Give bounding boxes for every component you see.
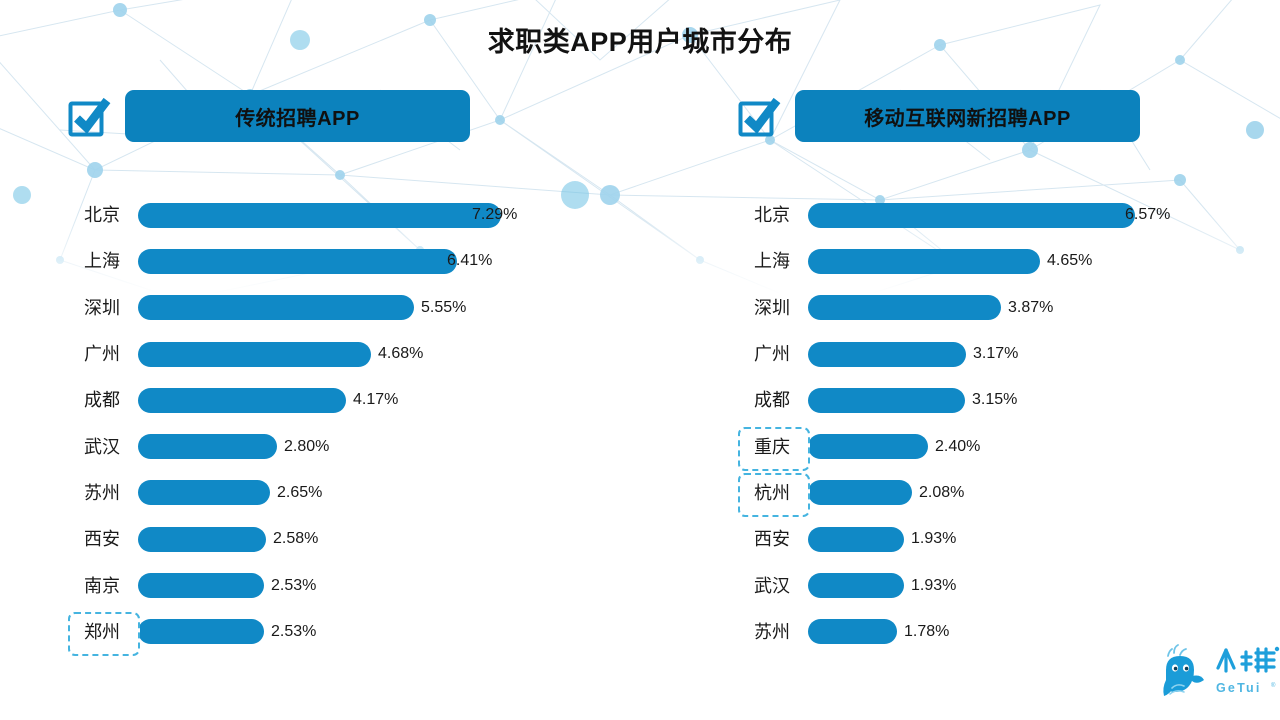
city-label: 上海	[736, 241, 808, 281]
bar-row: 上海4.65%	[736, 238, 1280, 284]
city-name: 广州	[754, 345, 790, 363]
value-bar	[138, 203, 501, 228]
city-label: 广州	[736, 334, 808, 374]
slide-root: 求职类APP用户城市分布 传统招聘APP 北京7.29%上海6.41%深圳5.5…	[0, 0, 1280, 720]
checkbox-checked-icon	[736, 93, 782, 139]
value-bar	[138, 434, 277, 459]
value-bar	[808, 342, 966, 367]
value-bar	[808, 249, 1040, 274]
bar-list-traditional: 北京7.29%上海6.41%深圳5.55%广州4.68%成都4.17%武汉2.8…	[66, 192, 626, 655]
city-name: 郑州	[84, 623, 120, 641]
bar-row: 西安1.93%	[736, 516, 1280, 562]
city-label: 成都	[736, 380, 808, 420]
value-label: 5.55%	[421, 299, 466, 317]
value-bar	[138, 295, 414, 320]
city-label: 西安	[736, 519, 808, 559]
bar-track: 1.93%	[808, 519, 1280, 559]
city-name: 武汉	[84, 438, 120, 456]
value-bar	[808, 527, 904, 552]
bar-track: 2.08%	[808, 473, 1280, 513]
city-label-highlighted: 郑州	[66, 612, 138, 652]
city-label: 北京	[66, 195, 138, 235]
city-name: 南京	[84, 577, 120, 595]
bar-track: 2.40%	[808, 427, 1280, 467]
bar-row: 广州4.68%	[66, 331, 626, 377]
bar-track: 1.93%	[808, 566, 1280, 606]
city-label: 广州	[66, 334, 138, 374]
value-bar	[138, 249, 457, 274]
bar-row: 北京7.29%	[66, 192, 626, 238]
city-name: 杭州	[754, 484, 790, 502]
value-bar	[808, 619, 897, 644]
bar-row: 杭州2.08%	[736, 470, 1280, 516]
city-name: 成都	[84, 391, 120, 409]
checkbox-checked-icon	[66, 93, 112, 139]
bar-track: 4.68%	[138, 334, 626, 374]
bar-row: 南京2.53%	[66, 562, 626, 608]
svg-text:®: ®	[1271, 682, 1276, 689]
value-label: 1.93%	[911, 530, 956, 548]
bar-row: 武汉2.80%	[66, 423, 626, 469]
city-name: 武汉	[754, 577, 790, 595]
bar-row: 重庆2.40%	[736, 423, 1280, 469]
city-label: 苏州	[66, 473, 138, 513]
value-label: 2.53%	[271, 623, 316, 641]
bar-row: 郑州2.53%	[66, 609, 626, 655]
bar-row: 北京6.57%	[736, 192, 1280, 238]
bar-row: 成都3.15%	[736, 377, 1280, 423]
value-bar	[808, 573, 904, 598]
city-name: 成都	[754, 391, 790, 409]
value-label: 1.93%	[911, 577, 956, 595]
bar-row: 苏州2.65%	[66, 470, 626, 516]
value-label: 3.15%	[972, 391, 1017, 409]
getui-wordmark	[1218, 649, 1274, 671]
city-label: 苏州	[736, 612, 808, 652]
value-label: 6.57%	[1125, 206, 1170, 224]
value-label: 2.65%	[277, 484, 322, 502]
city-label: 武汉	[736, 566, 808, 606]
svg-text:GeTui: GeTui	[1216, 681, 1262, 695]
value-label: 3.87%	[1008, 299, 1053, 317]
value-label: 2.80%	[284, 438, 329, 456]
panel-header-label-mobile-new: 移动互联网新招聘APP	[795, 90, 1140, 142]
value-bar	[808, 295, 1001, 320]
city-label: 上海	[66, 241, 138, 281]
value-bar	[138, 388, 346, 413]
bar-track: 6.41%	[138, 241, 626, 281]
city-name: 西安	[84, 530, 120, 548]
logo-dot-icon	[1275, 647, 1279, 651]
city-label: 西安	[66, 519, 138, 559]
bar-track: 2.65%	[138, 473, 626, 513]
city-name: 深圳	[754, 299, 790, 317]
value-label: 7.29%	[472, 206, 517, 224]
bar-track: 2.80%	[138, 427, 626, 467]
value-label: 4.68%	[378, 345, 423, 363]
city-label: 深圳	[66, 288, 138, 328]
city-label-highlighted: 杭州	[736, 473, 808, 513]
city-label: 武汉	[66, 427, 138, 467]
value-bar	[138, 342, 371, 367]
bar-track: 4.65%	[808, 241, 1280, 281]
value-bar	[808, 480, 912, 505]
city-label: 南京	[66, 566, 138, 606]
city-name: 北京	[754, 206, 790, 224]
value-label: 6.41%	[447, 252, 492, 270]
value-label: 1.78%	[904, 623, 949, 641]
bar-track: 5.55%	[138, 288, 626, 328]
city-name: 北京	[84, 206, 120, 224]
bar-row: 西安2.58%	[66, 516, 626, 562]
whale-mascot-icon	[1163, 645, 1204, 696]
bar-row: 深圳5.55%	[66, 285, 626, 331]
bar-track: 3.17%	[808, 334, 1280, 374]
value-bar	[138, 480, 270, 505]
bar-track: 6.57%	[808, 195, 1280, 235]
city-name: 上海	[84, 252, 120, 270]
panel-traditional: 传统招聘APP 北京7.29%上海6.41%深圳5.55%广州4.68%成都4.…	[66, 88, 626, 144]
city-name: 苏州	[84, 484, 120, 502]
bar-list-mobile-new: 北京6.57%上海4.65%深圳3.87%广州3.17%成都3.15%重庆2.4…	[736, 192, 1280, 655]
value-bar	[138, 573, 264, 598]
bar-row: 广州3.17%	[736, 331, 1280, 377]
value-label: 4.17%	[353, 391, 398, 409]
bar-row: 成都4.17%	[66, 377, 626, 423]
bar-track: 3.15%	[808, 380, 1280, 420]
bar-track: 7.29%	[138, 195, 626, 235]
bar-track: 3.87%	[808, 288, 1280, 328]
value-bar	[138, 619, 264, 644]
getui-latin-text: GeTui	[1216, 681, 1262, 695]
city-name: 广州	[84, 345, 120, 363]
bar-track: 2.53%	[138, 612, 626, 652]
panel-mobile-new: 移动互联网新招聘APP 北京6.57%上海4.65%深圳3.87%广州3.17%…	[736, 88, 1280, 144]
value-label: 4.65%	[1047, 252, 1092, 270]
bar-track: 2.58%	[138, 519, 626, 559]
city-name: 西安	[754, 530, 790, 548]
panel-header-traditional: 传统招聘APP	[66, 88, 626, 144]
value-label: 2.53%	[271, 577, 316, 595]
city-name: 苏州	[754, 623, 790, 641]
getui-logo: GeTui ®	[1158, 640, 1280, 712]
city-name: 上海	[754, 252, 790, 270]
value-bar	[808, 203, 1135, 228]
panel-header-mobile-new: 移动互联网新招聘APP	[736, 88, 1280, 144]
panel-header-label-traditional: 传统招聘APP	[125, 90, 470, 142]
bar-row: 深圳3.87%	[736, 285, 1280, 331]
bar-track: 4.17%	[138, 380, 626, 420]
bar-row: 武汉1.93%	[736, 562, 1280, 608]
value-bar	[808, 434, 928, 459]
value-label: 3.17%	[973, 345, 1018, 363]
city-label: 成都	[66, 380, 138, 420]
value-bar	[138, 527, 266, 552]
city-label: 深圳	[736, 288, 808, 328]
value-bar	[808, 388, 965, 413]
city-name: 深圳	[84, 299, 120, 317]
value-label: 2.08%	[919, 484, 964, 502]
city-label: 北京	[736, 195, 808, 235]
page-title: 求职类APP用户城市分布	[0, 20, 1280, 59]
bar-track: 2.53%	[138, 566, 626, 606]
city-name: 重庆	[754, 438, 790, 456]
bar-row: 上海6.41%	[66, 238, 626, 284]
city-label-highlighted: 重庆	[736, 427, 808, 467]
value-label: 2.40%	[935, 438, 980, 456]
value-label: 2.58%	[273, 530, 318, 548]
